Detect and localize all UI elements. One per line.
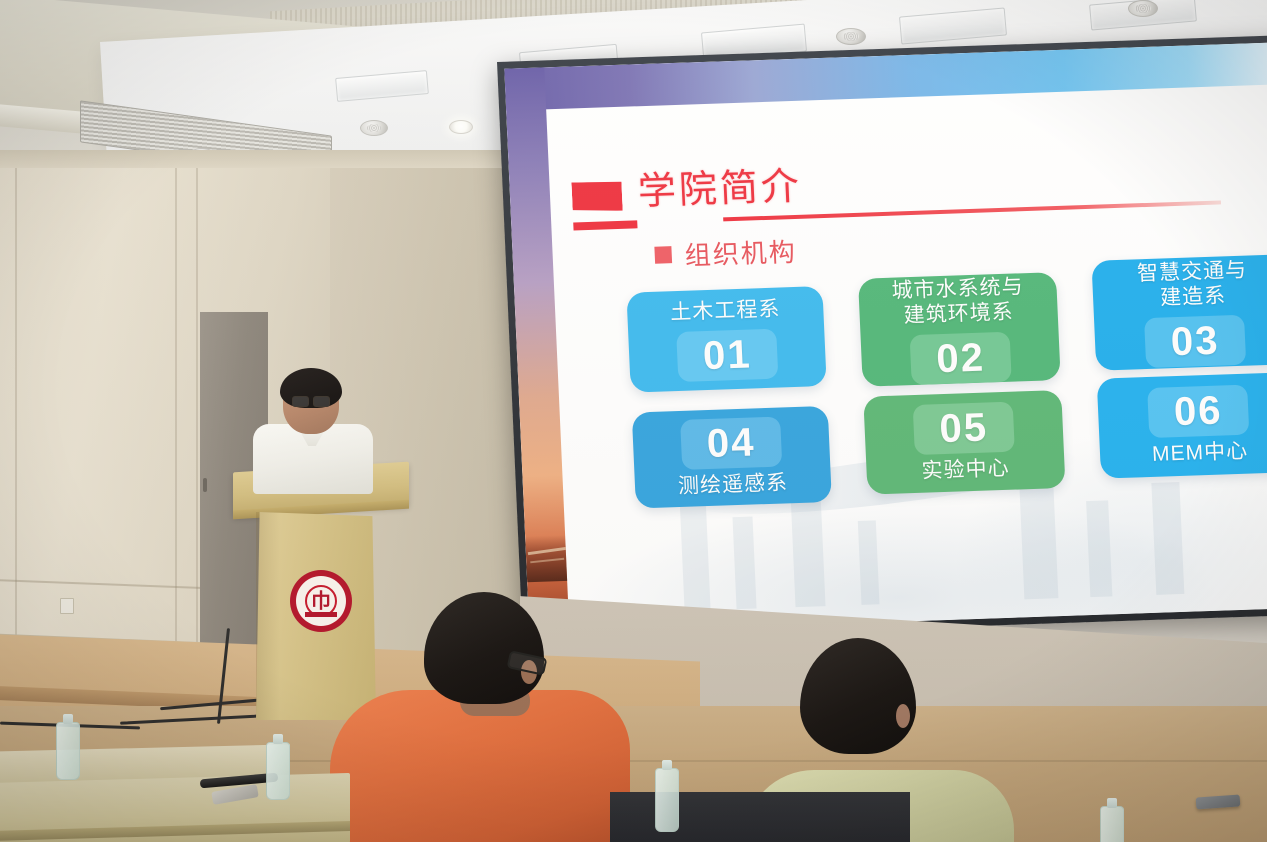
- ceiling-speaker-icon: [1128, 0, 1158, 17]
- org-card-01[interactable]: 土木工程系 01: [626, 286, 826, 393]
- presentation-slide: 学院简介 组织机构 土木工程系 01 城市水系统与 建筑环境系 02: [504, 42, 1267, 634]
- presenter-eyeglasses-icon: [292, 396, 330, 405]
- org-card-05[interactable]: 05 实验中心: [863, 390, 1065, 495]
- flag-pole-bar: [573, 220, 637, 230]
- slide-subtitle: 组织机构: [684, 231, 798, 272]
- slide-title: 学院简介: [637, 163, 803, 217]
- org-card-05-number: 05: [939, 405, 989, 451]
- org-card-04[interactable]: 04 测绘遥感系: [632, 406, 832, 509]
- bullet-square-icon: [654, 246, 672, 264]
- org-card-06[interactable]: 06 MEM中心: [1097, 372, 1267, 479]
- ceiling-downlight-icon: [449, 120, 473, 134]
- presentation-room-photo: 学院简介 组织机构 土木工程系 01 城市水系统与 建筑环境系 02: [0, 0, 1267, 842]
- org-card-04-label: 测绘遥感系: [669, 470, 796, 499]
- org-card-03-label: 智慧交通与 建造系: [1128, 257, 1256, 311]
- org-card-02-label: 城市水系统与 建筑环境系: [883, 273, 1033, 328]
- org-structure-card-grid: 土木工程系 01 城市水系统与 建筑环境系 02 智慧交通与 建造系 03 04: [626, 270, 1267, 522]
- water-bottle: [1100, 806, 1124, 842]
- water-bottle: [266, 742, 290, 800]
- org-card-02-number: 02: [935, 335, 985, 381]
- water-bottle: [655, 768, 679, 832]
- org-card-01-label: 土木工程系: [662, 296, 789, 325]
- slide-subtitle-row: 组织机构: [654, 235, 797, 270]
- water-bottle: [56, 722, 80, 780]
- org-card-03[interactable]: 智慧交通与 建造系 03: [1091, 254, 1267, 371]
- org-card-05-label: 实验中心: [913, 455, 1018, 484]
- org-card-06-label: MEM中心: [1144, 438, 1257, 467]
- screen-surface: 学院简介 组织机构 土木工程系 01 城市水系统与 建筑环境系 02: [504, 42, 1267, 634]
- org-card-06-number: 06: [1173, 388, 1223, 434]
- org-card-04-number: 04: [706, 420, 756, 466]
- org-card-03-number: 03: [1170, 318, 1220, 364]
- audience-right-ear: [896, 704, 910, 728]
- projection-screen: 学院简介 组织机构 土木工程系 01 城市水系统与 建筑环境系 02: [497, 35, 1267, 641]
- university-crest-icon: 巾: [290, 570, 352, 632]
- flag-icon: [571, 181, 622, 213]
- wall-top-band: [0, 150, 530, 168]
- slide-strip-bridge-icon: [525, 535, 567, 582]
- ceiling-speaker-icon: [836, 28, 866, 45]
- slide-title-row: 学院简介: [571, 148, 1245, 227]
- ceiling-speaker-icon: [360, 120, 388, 136]
- org-card-01-number: 01: [702, 333, 752, 379]
- lectern-shading: [256, 512, 280, 720]
- door-handle-icon[interactable]: [203, 478, 207, 492]
- power-outlet-icon: [60, 598, 74, 614]
- org-card-02[interactable]: 城市水系统与 建筑环境系 02: [858, 272, 1061, 387]
